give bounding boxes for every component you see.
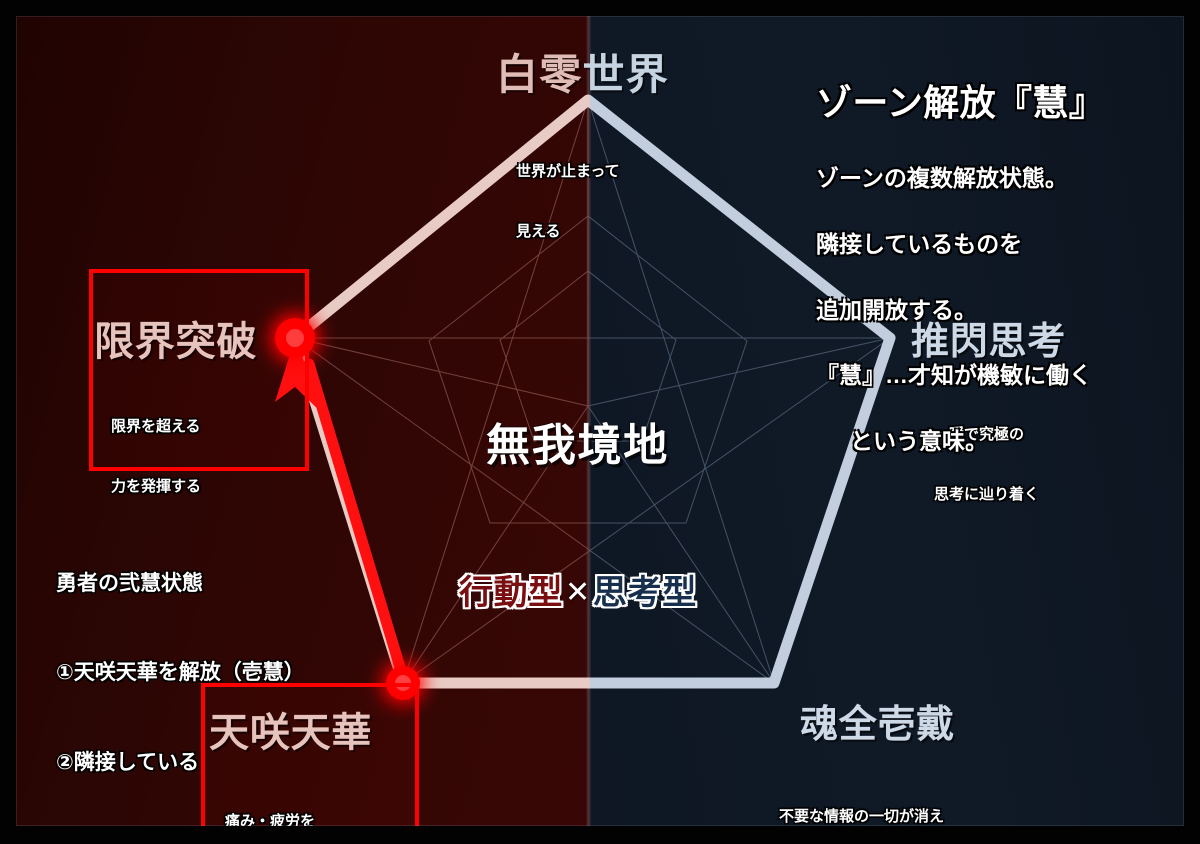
hero-note-item-2: ②隣接している <box>56 748 308 778</box>
cross-icon: ✕ <box>563 575 593 610</box>
hero-note-title: 勇者の弐慧状態 <box>56 569 308 599</box>
hero-note-block: 勇者の弐慧状態 ①天咲天華を解放（壱慧） ②隣接している 限界突破も解放（弐慧） <box>56 509 308 826</box>
node-title-shiro-zero-sekai-right: 世界 <box>583 50 670 100</box>
axis-label-thinking: 思考型 <box>593 573 697 613</box>
headline-block: ゾーン解放『慧』 ゾーンの複数解放状態。 隣接しているものを 追加開放する。 『… <box>816 44 1105 493</box>
headline-line-1: ゾーンの複数解放状態。 <box>816 164 1105 192</box>
node-desc-line: 世界が止まって <box>516 162 620 182</box>
node-desc-line: 限界を超える <box>111 417 201 437</box>
screenshot-root: 白零世界 世界が止まって 見える 推閃思考 一瞬で究極の 思考に辿り着く 魂全壱… <box>0 0 1200 844</box>
node-desc-konzen-ichitai: 不要な情報の一切が消え 目的のみに没頭する <box>779 766 944 826</box>
headline-line-2: 隣接しているものを <box>816 230 1105 258</box>
node-title-genkai-toppa: 限界突破 <box>94 319 257 366</box>
node-desc-line: 力を発揮する <box>111 477 201 497</box>
node-title-konzen-ichitai: 魂全壱戴 <box>800 703 955 748</box>
node-desc-line: 見える <box>516 222 620 242</box>
headline-line-3: 追加開放する。 <box>816 296 1105 324</box>
axis-type-label: 行動型 ✕ 思考型 <box>459 573 697 613</box>
node-desc-shiro-zero-sekai: 世界が止まって 見える <box>516 121 620 283</box>
headline-line-4: 『慧』…才知が機敏に働く <box>816 361 1105 389</box>
infographic-panel: 白零世界 世界が止まって 見える 推閃思考 一瞬で究極の 思考に辿り着く 魂全壱… <box>16 16 1184 826</box>
node-desc-line: 不要な情報の一切が消え <box>779 807 944 827</box>
center-state-label: 無我境地 <box>486 420 669 472</box>
node-title-shiro-zero-sekai: 白零世界 <box>496 50 669 100</box>
axis-label-action: 行動型 <box>459 573 563 613</box>
headline-line-5: という意味。 <box>816 427 1105 455</box>
hero-note-item-1: ①天咲天華を解放（壱慧） <box>56 658 308 688</box>
headline-title: ゾーン解放『慧』 <box>816 82 1105 124</box>
node-title-shiro-zero-sekai-left: 白零 <box>496 50 583 100</box>
